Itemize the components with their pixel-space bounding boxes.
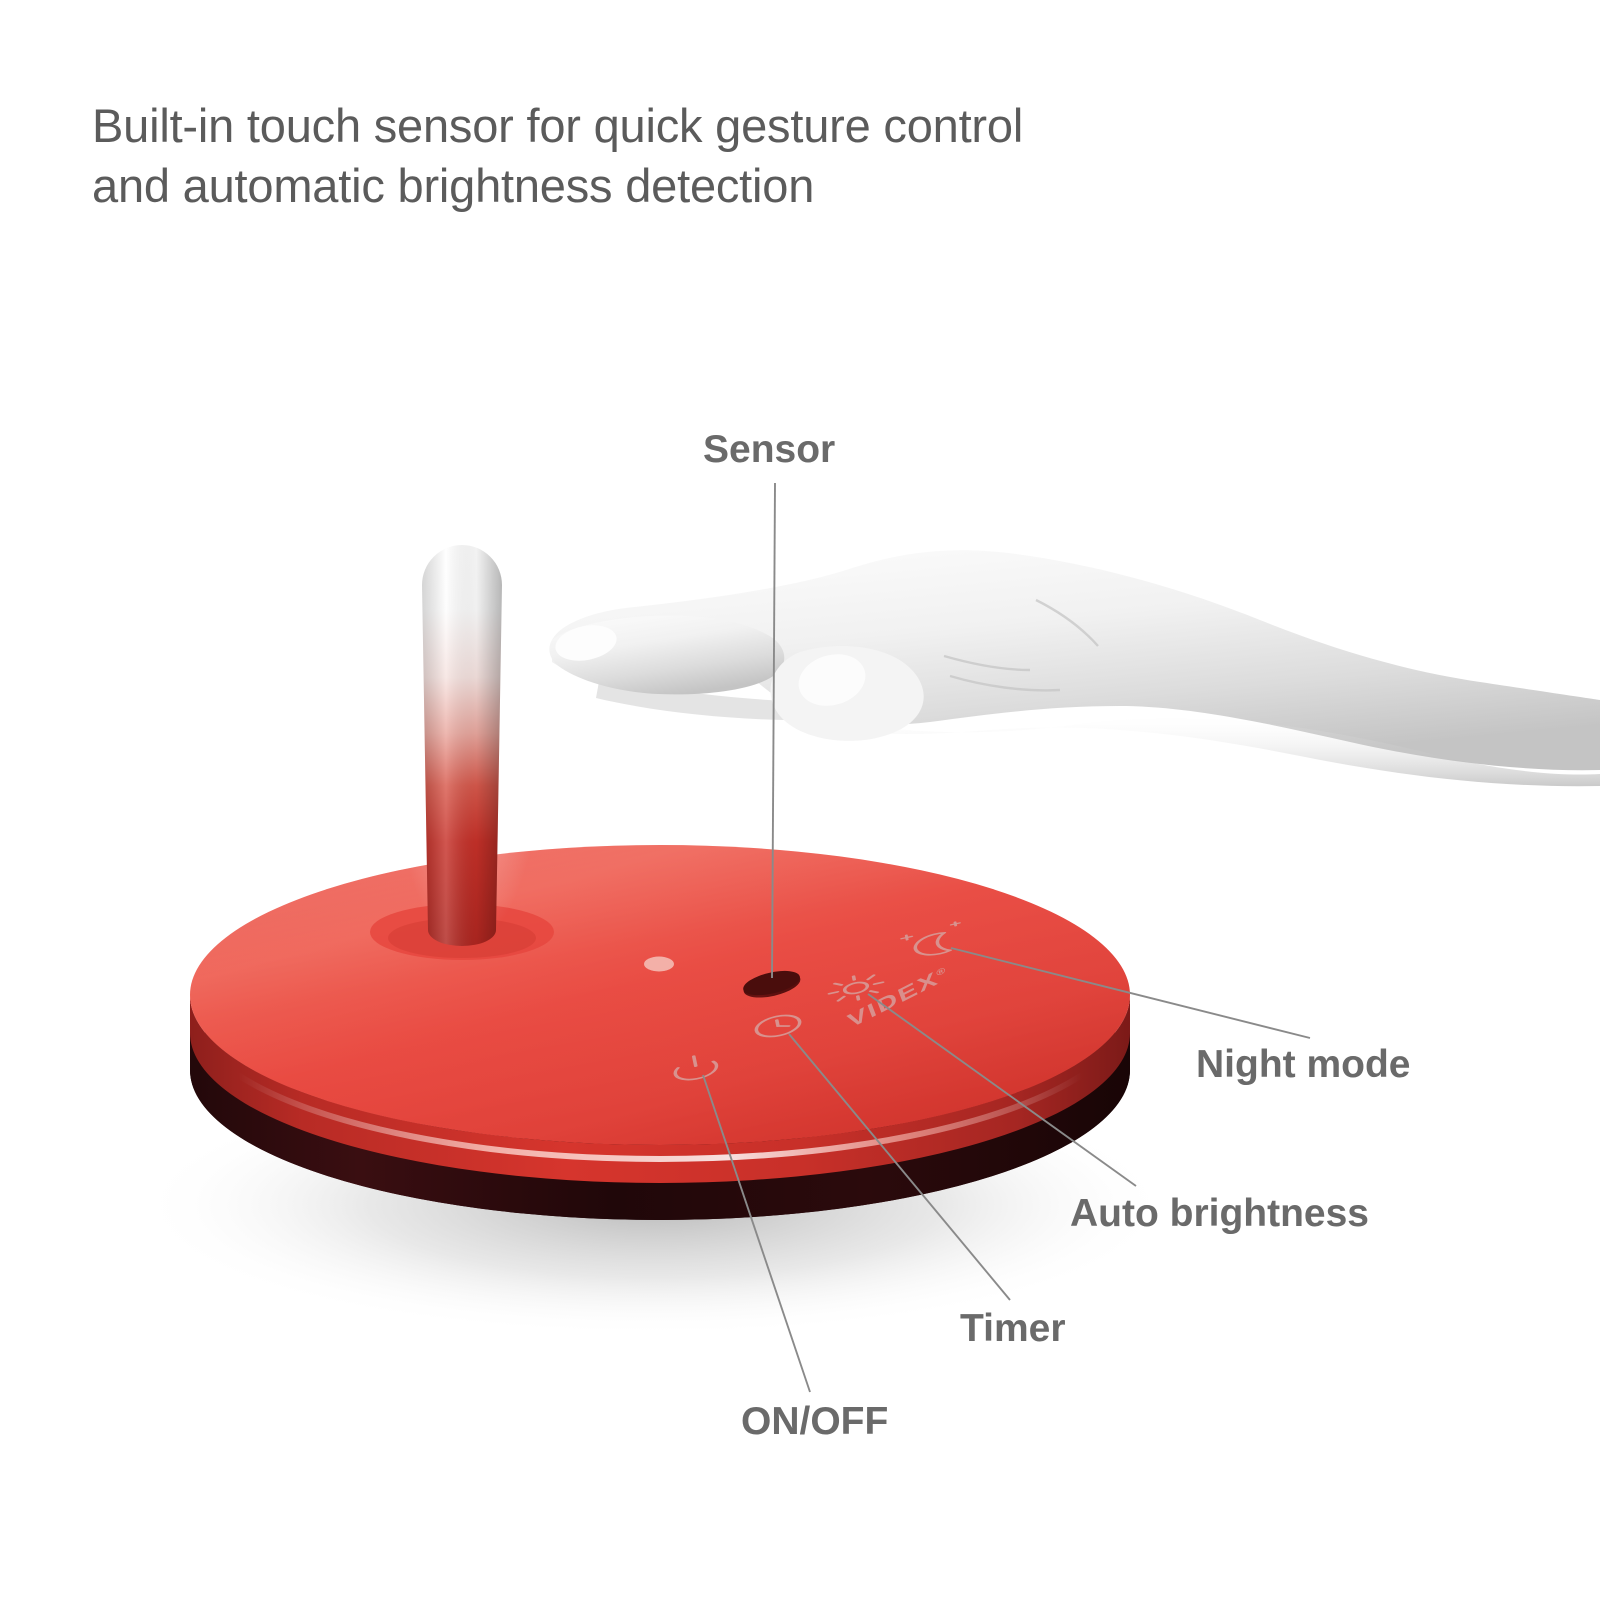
leader-line-night-mode	[951, 948, 1310, 1038]
callout-label-sensor: Sensor	[703, 428, 835, 472]
callout-leader-lines	[0, 0, 1600, 1600]
product-illustration: VIDEX® Sensor Night mode Auto brightness…	[0, 0, 1600, 1600]
leader-line-auto-brightness	[868, 994, 1136, 1186]
callout-label-timer: Timer	[960, 1307, 1066, 1351]
infographic-page: Built-in touch sensor for quick gesture …	[0, 0, 1600, 1600]
leader-line-onoff	[703, 1075, 810, 1392]
leader-line-timer	[789, 1034, 1010, 1300]
callout-label-onoff: ON/OFF	[741, 1400, 888, 1444]
callout-label-night-mode: Night mode	[1196, 1043, 1410, 1087]
callout-label-auto-brightness: Auto brightness	[1070, 1192, 1369, 1236]
leader-line-sensor	[772, 483, 775, 978]
